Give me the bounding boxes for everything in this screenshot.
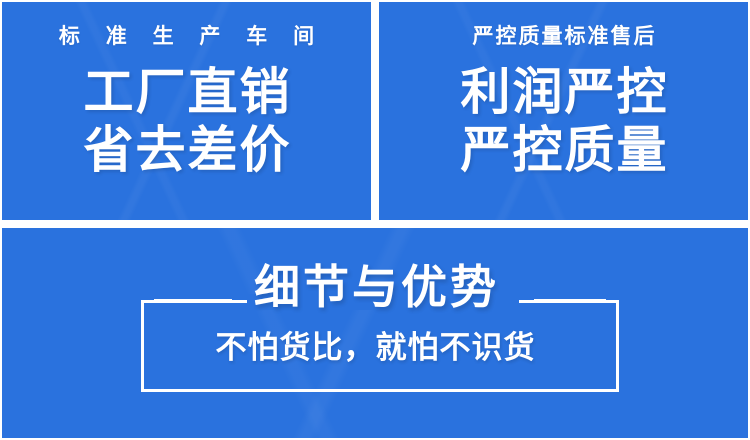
- panel-details-advantages: 细节与优势 不怕货比，就怕不识货: [2, 228, 748, 438]
- eyebrow-quality-aftersales: 严控质量标准售后: [471, 26, 657, 47]
- headline-quality-control-line2: 严控质量: [459, 121, 669, 179]
- promo-banner: 标 准 生 产 车 间 工厂直销 省去差价 严控质量标准售后 利润严控 严控质量…: [0, 0, 750, 440]
- panel-details-advantages-content: 细节与优势 不怕货比，就怕不识货: [2, 228, 748, 438]
- headline-quality-control-line1: 利润严控: [459, 63, 669, 121]
- eyebrow-standard-workshop: 标 准 生 产 车 间: [49, 26, 324, 47]
- section-subtitle-compare-goods: 不怕货比，就怕不识货: [2, 332, 748, 363]
- panel-quality-control-content: 严控质量标准售后 利润严控 严控质量: [379, 2, 748, 220]
- headline-factory-direct-line2: 省去差价: [82, 121, 292, 179]
- panel-factory-direct: 标 准 生 产 车 间 工厂直销 省去差价: [2, 2, 371, 220]
- panel-factory-direct-content: 标 准 生 产 车 间 工厂直销 省去差价: [2, 2, 371, 220]
- panel-quality-control: 严控质量标准售后 利润严控 严控质量: [379, 2, 748, 220]
- headline-factory-direct-line1: 工厂直销: [82, 63, 292, 121]
- section-title-details-advantages: 细节与优势: [2, 264, 748, 310]
